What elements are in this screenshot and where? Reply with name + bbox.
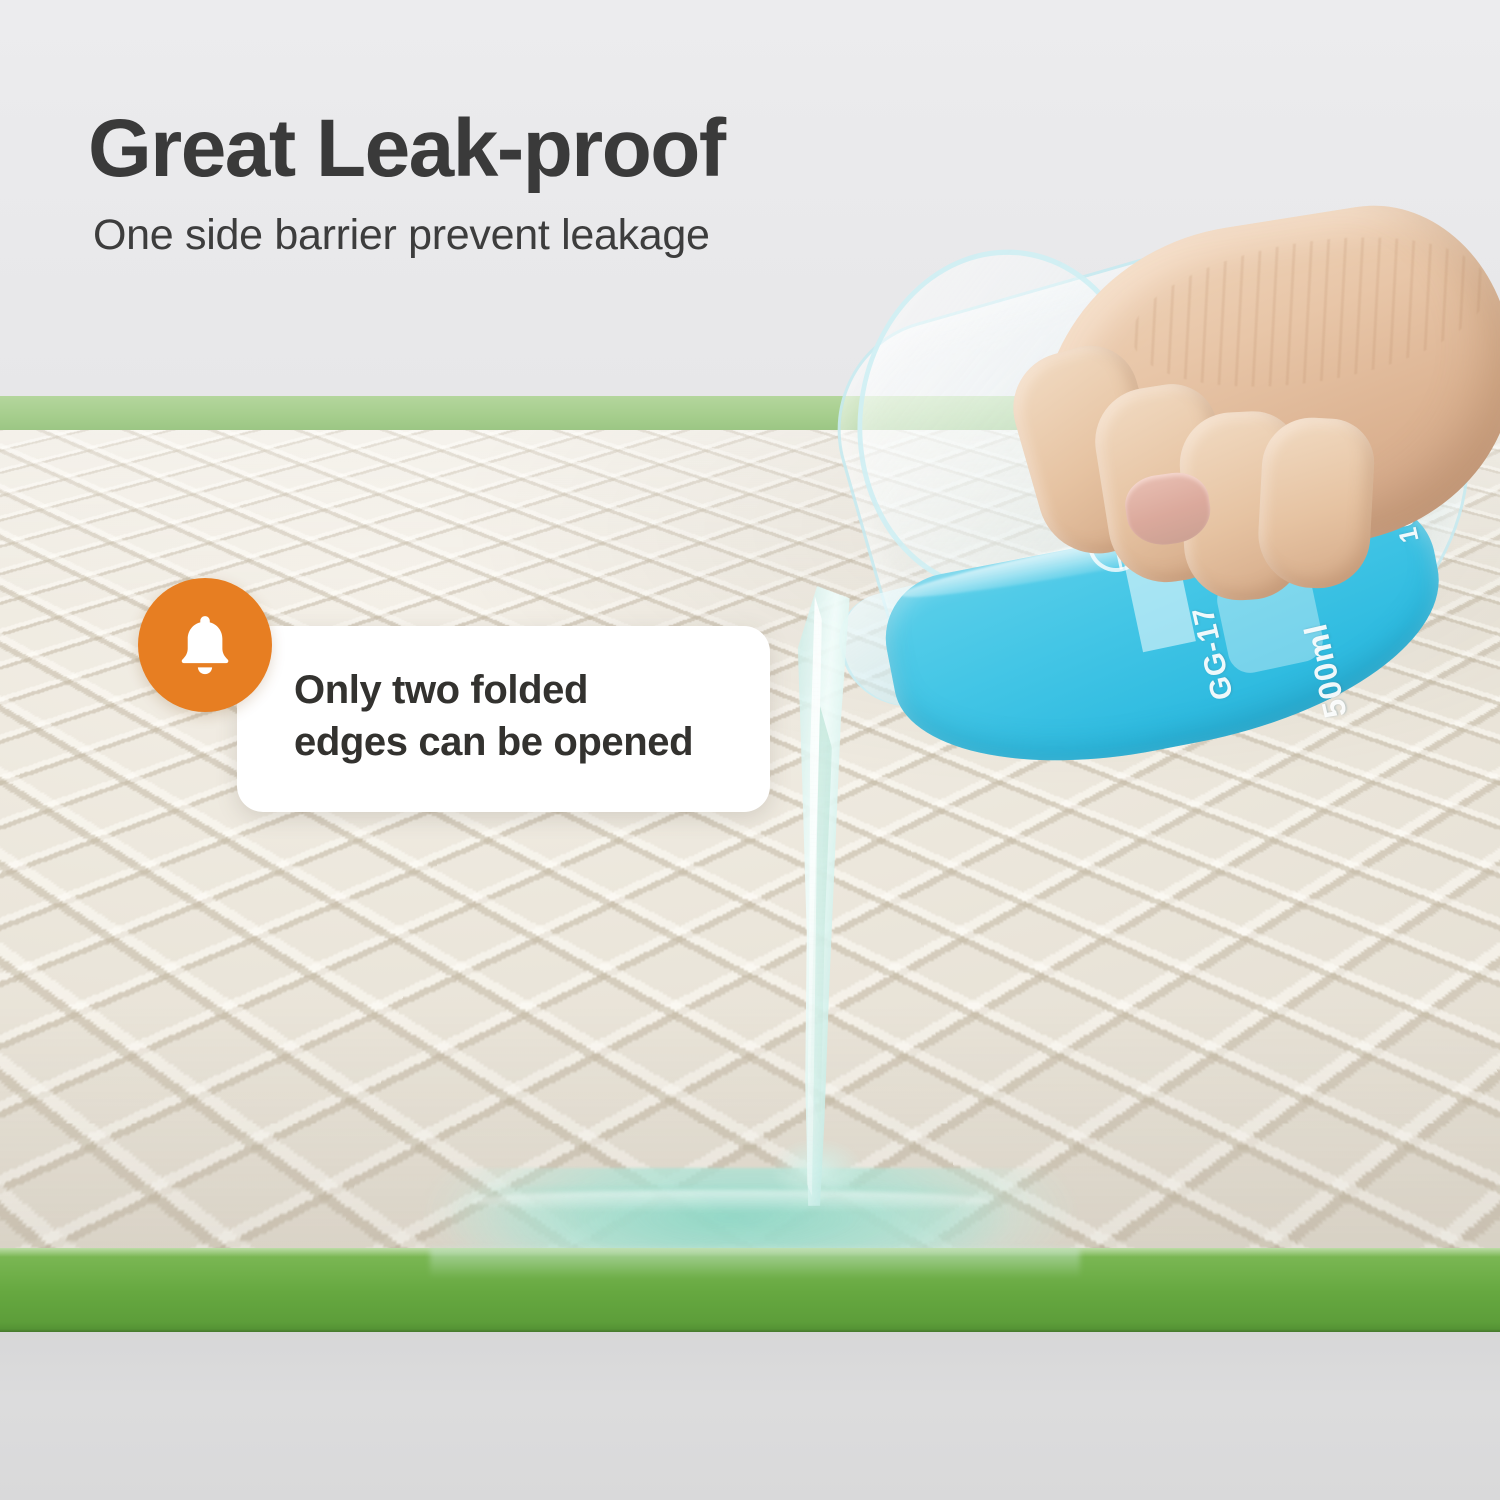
callout-line-1: Only two folded <box>294 668 588 712</box>
liquid-puddle-highlight <box>470 1190 990 1212</box>
page-subtitle: One side barrier prevent leakage <box>93 212 710 259</box>
page-title: Great Leak-proof <box>88 108 725 190</box>
footer-strip <box>0 1332 1500 1500</box>
product-feature-image: Great Leak-proof One side barrier preven… <box>0 0 1500 1500</box>
callout-text: Only two folded edges can be opened <box>294 664 764 768</box>
pouring-water-stream <box>786 586 860 1206</box>
callout-line-2: edges can be opened <box>294 716 764 768</box>
bell-icon <box>171 611 239 679</box>
hand-holding-beaker: 500 APPROX 300 200 100 GG-17 500ml <box>830 236 1500 796</box>
finger-little <box>1256 415 1377 591</box>
barrier-wet-sheen <box>430 1248 1080 1278</box>
callout-badge <box>138 578 272 712</box>
